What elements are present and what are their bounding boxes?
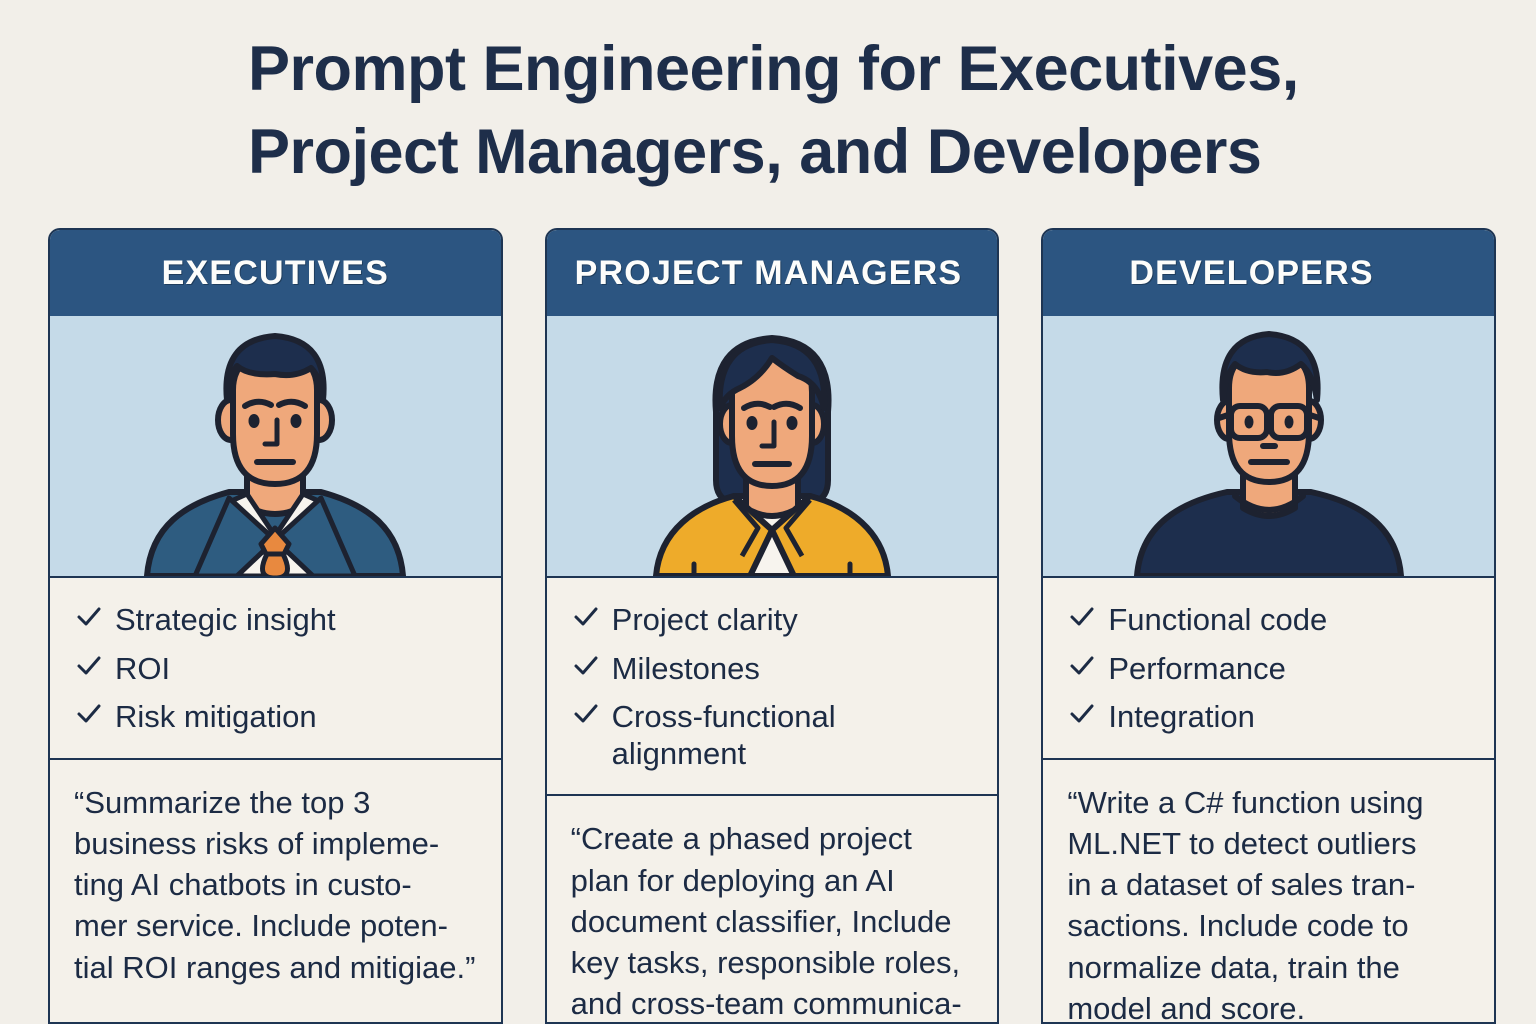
- list-item: Project clarity: [573, 602, 972, 639]
- check-icon: [76, 701, 102, 735]
- check-icon: [573, 701, 599, 735]
- benefits-list-executives: Strategic insight ROI Risk mitigation: [50, 578, 501, 758]
- list-item-label: Functional code: [1108, 602, 1468, 639]
- list-item: ROI: [76, 651, 475, 688]
- role-card-developers: DEVELOPERS: [1041, 228, 1496, 1024]
- list-item-label: Performance: [1108, 651, 1468, 688]
- list-item-label: Risk mitigation: [115, 699, 475, 736]
- page-title: Prompt Engineering for Executives, Proje…: [248, 28, 1498, 194]
- check-icon: [573, 653, 599, 687]
- card-header-project-managers: PROJECT MANAGERS: [547, 230, 998, 316]
- list-item-label: Cross-functional alignment: [612, 699, 972, 772]
- list-item-label: Milestones: [612, 651, 972, 688]
- check-icon: [1069, 701, 1095, 735]
- role-card-executives: EXECUTIVES: [48, 228, 503, 1024]
- executive-avatar: [125, 316, 425, 576]
- role-card-project-managers: PROJECT MANAGERS: [545, 228, 1000, 1024]
- check-icon: [1069, 653, 1095, 687]
- card-header-developers: DEVELOPERS: [1043, 230, 1494, 316]
- check-icon: [76, 653, 102, 687]
- list-item-label: Strategic insight: [115, 602, 475, 639]
- list-item: Risk mitigation: [76, 699, 475, 736]
- project-manager-avatar: [622, 316, 922, 576]
- list-item: Functional code: [1069, 602, 1468, 639]
- check-icon: [573, 604, 599, 638]
- role-card-grid: EXECUTIVES: [48, 228, 1496, 1024]
- example-prompt-executives: “Summarize the top 3 business risks of i…: [50, 760, 501, 1022]
- developer-avatar: [1119, 316, 1419, 576]
- list-item: Strategic insight: [76, 602, 475, 639]
- check-icon: [76, 604, 102, 638]
- list-item-label: ROI: [115, 651, 475, 688]
- benefits-list-developers: Functional code Performance Integration: [1043, 578, 1494, 758]
- example-prompt-project-managers: “Create a phased project plan for deploy…: [547, 796, 998, 1022]
- list-item-label: Project clarity: [612, 602, 972, 639]
- example-prompt-developers: “Write a C# function using ML.NET to det…: [1043, 760, 1494, 1022]
- list-item-label: Integration: [1108, 699, 1468, 736]
- list-item: Milestones: [573, 651, 972, 688]
- benefits-list-project-managers: Project clarity Milestones Cross-functio…: [547, 578, 998, 794]
- avatar-band-developers: [1043, 316, 1494, 578]
- list-item: Performance: [1069, 651, 1468, 688]
- avatar-band-project-managers: [547, 316, 998, 578]
- list-item: Integration: [1069, 699, 1468, 736]
- avatar-band-executives: [50, 316, 501, 578]
- check-icon: [1069, 604, 1095, 638]
- card-header-executives: EXECUTIVES: [50, 230, 501, 316]
- list-item: Cross-functional alignment: [573, 699, 972, 772]
